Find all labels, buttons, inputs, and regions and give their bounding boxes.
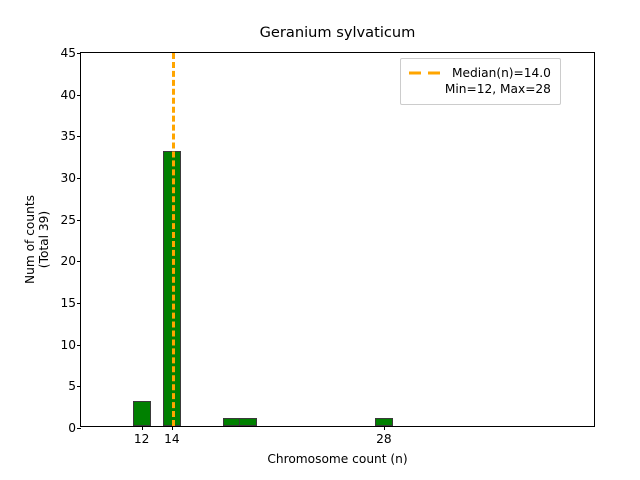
legend-label-minmax: Min=12, Max=28 [445,81,551,97]
plot-area: 051015202530354045121428 [80,52,595,427]
y-tick-label: 10 [60,338,76,352]
y-tick-mark [77,220,81,221]
x-tick-label: 12 [134,432,150,446]
x-tick-mark [142,426,143,430]
chart-title: Geranium sylvaticum [80,26,595,41]
x-tick-label: 14 [164,432,180,446]
y-tick-mark [77,178,81,179]
bar [133,401,151,426]
dashed-line-icon [409,66,443,80]
y-tick-label: 20 [60,254,76,268]
y-tick-mark [77,53,81,54]
y-tick-mark [77,345,81,346]
chart-legend: Median(n)=14.0 Min=12, Max=28 [400,58,561,105]
x-axis-label: Chromosome count (n) [80,452,595,466]
y-tick-label: 5 [68,379,76,393]
x-tick-mark [172,426,173,430]
y-tick-label: 40 [60,88,76,102]
y-axis-label: Num of counts (Total 39) [24,52,50,427]
y-tick-mark [77,386,81,387]
chart-figure: Geranium sylvaticum 05101520253035404512… [0,0,640,480]
y-tick-mark [77,428,81,429]
bar [239,418,257,426]
y-tick-label: 0 [68,421,76,435]
bar [375,418,393,426]
x-tick-label: 28 [376,432,392,446]
y-tick-mark [77,136,81,137]
y-tick-mark [77,261,81,262]
x-tick-mark [384,426,385,430]
legend-entry-minmax: Min=12, Max=28 [409,81,551,97]
y-tick-label: 15 [60,296,76,310]
y-tick-label: 25 [60,213,76,227]
y-tick-label: 45 [60,46,76,60]
y-tick-mark [77,303,81,304]
y-tick-label: 30 [60,171,76,185]
median-line [172,53,175,426]
legend-label-median: Median(n)=14.0 [452,65,551,81]
y-tick-label: 35 [60,129,76,143]
plot-inner [81,53,594,426]
y-tick-mark [77,95,81,96]
legend-entry-median: Median(n)=14.0 [409,65,551,81]
